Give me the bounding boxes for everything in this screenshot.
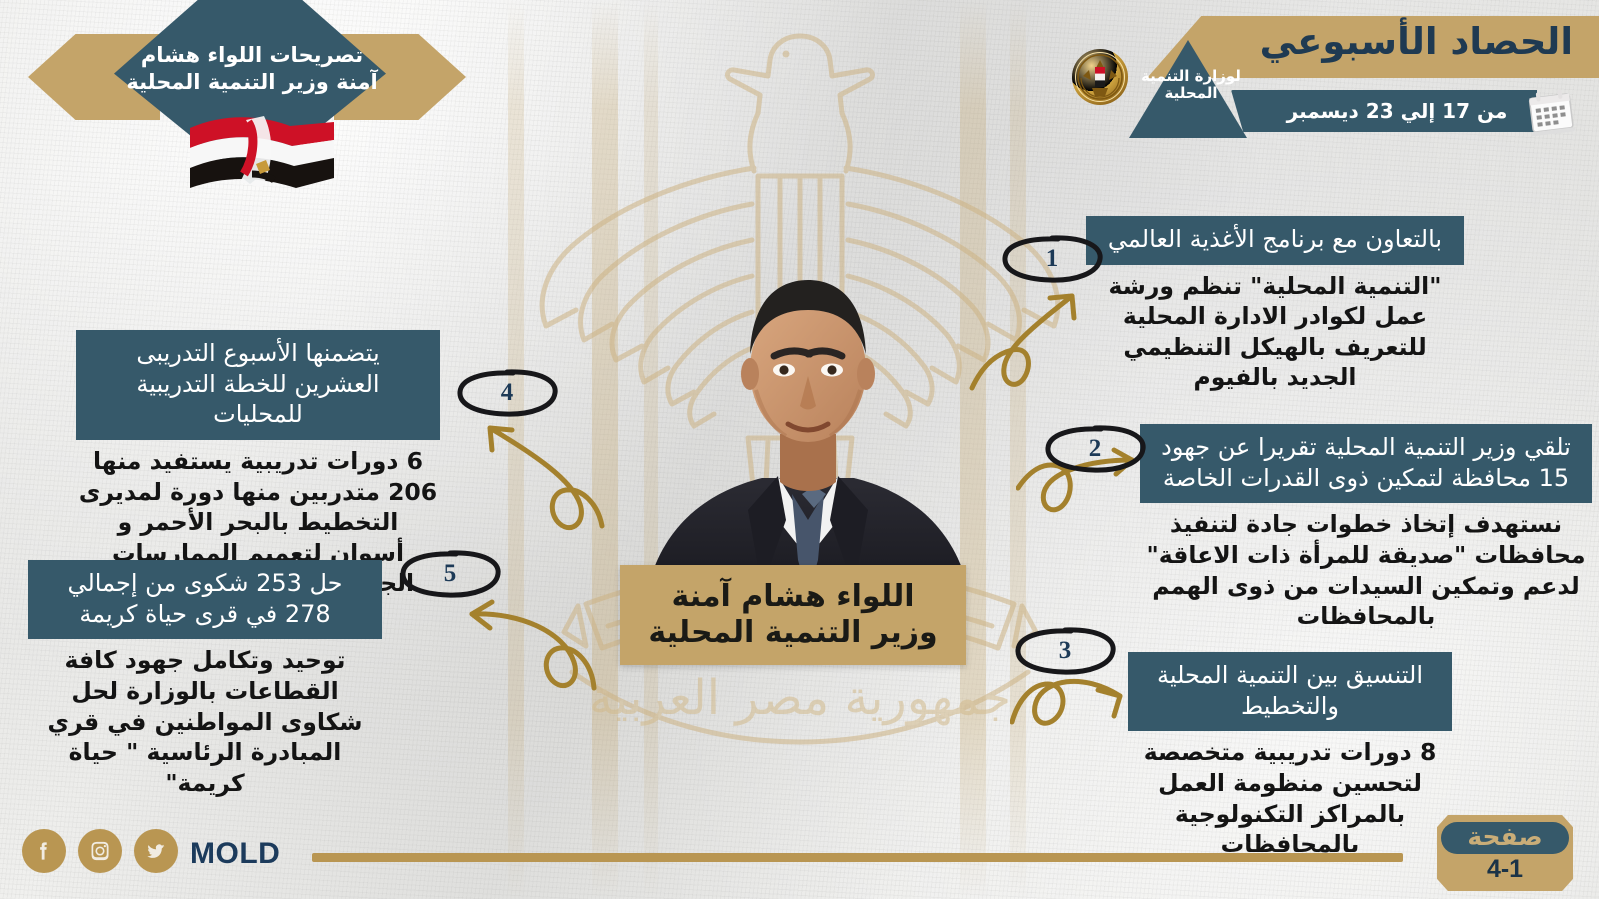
step-number: 5 [398,549,502,599]
content-block-5: حل 253 شكوى من إجمالي 278 في قرى حياة كر… [28,560,382,798]
block-heading: يتضمنها الأسبوع التدريبى العشرين للخطة ا… [76,330,440,440]
minister-nameplate: اللواء هشام آمنة وزير التنمية المحلية [620,565,966,665]
date-range-badge: من 17 إلي 23 ديسمبر [1231,90,1537,132]
block-body: نستهدف إتخاذ خطوات جادة لتنفيذ محافظات "… [1140,503,1592,631]
footer-bar: MOLD صفحة 4-1 [0,803,1599,899]
footer-divider-line [312,853,1403,862]
step-number: 3 [1013,626,1117,676]
page-label: صفحة [1441,822,1568,855]
header-banner: الحصاد الأسبوعي لوزارة التنمية المحلية م… [1067,16,1599,138]
infographic-poster: جمهورية مصر العربية [0,0,1599,899]
left-statement-badge: تصريحات اللواء هشام آمنة وزير التنمية ال… [22,0,452,200]
facebook-icon[interactable] [22,829,66,873]
page-title: الحصاد الأسبوعي [1173,20,1573,63]
egypt-flag-ribbon-icon [188,108,338,190]
step-marker-1: 1 [1000,234,1104,284]
step-number: 1 [1000,234,1104,284]
page-number: 4-1 [1487,855,1523,884]
step-number: 2 [1043,424,1147,474]
content-block-2: تلقي وزير التنمية المحلية تقريرا عن جهود… [1140,424,1592,632]
badge-text-line2: آمنة وزير التنمية المحلية [118,69,386,96]
content-block-4: يتضمنها الأسبوع التدريبى العشرين للخطة ا… [76,330,440,599]
brand-name: MOLD [190,837,280,871]
badge-text-line1: تصريحات اللواء هشام [118,42,386,69]
nameplate-line1: اللواء هشام آمنة [672,579,915,615]
block-heading: تلقي وزير التنمية المحلية تقريرا عن جهود… [1140,424,1592,503]
ministry-name: لوزارة التنمية المحلية [1135,68,1247,102]
step-marker-5: 5 [398,549,502,599]
block-heading: التنسيق بين التنمية المحلية والتخطيط [1128,652,1452,731]
calendar-icon [1525,86,1577,136]
block-body: "التنمية المحلية" تنظم ورشة عمل لكوادر ا… [1086,265,1464,393]
block-body: توحيد وتكامل جهود كافة القطاعات بالوزارة… [28,639,382,798]
egypt-state-seal-icon [1071,48,1129,106]
curly-arrow-4 [470,400,606,532]
nameplate-line2: وزير التنمية المحلية [648,615,937,651]
emblem-watermark-text: جمهورية مصر العربية [588,670,1010,726]
step-marker-4: 4 [455,368,559,418]
step-number: 4 [455,368,559,418]
block-heading: حل 253 شكوى من إجمالي 278 في قرى حياة كر… [28,560,382,639]
content-block-1: بالتعاون مع برنامج الأغذية العالمي "التن… [1086,216,1464,393]
twitter-icon[interactable] [134,829,178,873]
step-marker-3: 3 [1013,626,1117,676]
block-heading: بالتعاون مع برنامج الأغذية العالمي [1086,216,1464,265]
instagram-icon[interactable] [78,829,122,873]
page-badge: صفحة 4-1 [1437,815,1573,891]
badge-text: تصريحات اللواء هشام آمنة وزير التنمية ال… [118,42,386,96]
step-marker-2: 2 [1043,424,1147,474]
